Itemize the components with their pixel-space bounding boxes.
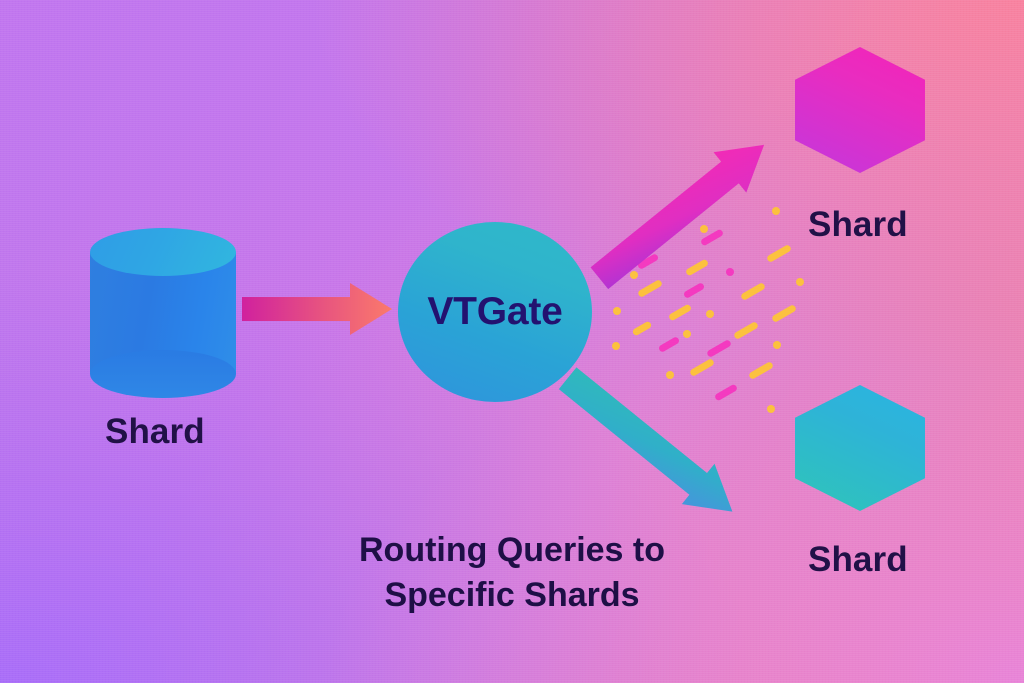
cylinder-top-ellipse bbox=[90, 228, 236, 276]
arrow-vtgate-to-shard-top bbox=[575, 108, 800, 268]
shard-source-label: Shard bbox=[105, 412, 205, 452]
shard-source-cylinder[interactable] bbox=[90, 228, 236, 398]
arrow-vtgate-to-shard-bottom bbox=[578, 352, 803, 512]
arrow-shard-to-vtgate bbox=[242, 283, 402, 339]
vtgate-label: VTGate bbox=[427, 290, 562, 334]
cylinder-bottom-ellipse bbox=[90, 350, 236, 398]
diagram-canvas: Shard bbox=[0, 0, 1024, 683]
shard-target-bottom-label: Shard bbox=[808, 540, 908, 580]
shard-target-top-label: Shard bbox=[808, 205, 908, 245]
vtgate-node[interactable]: VTGate bbox=[398, 222, 592, 402]
